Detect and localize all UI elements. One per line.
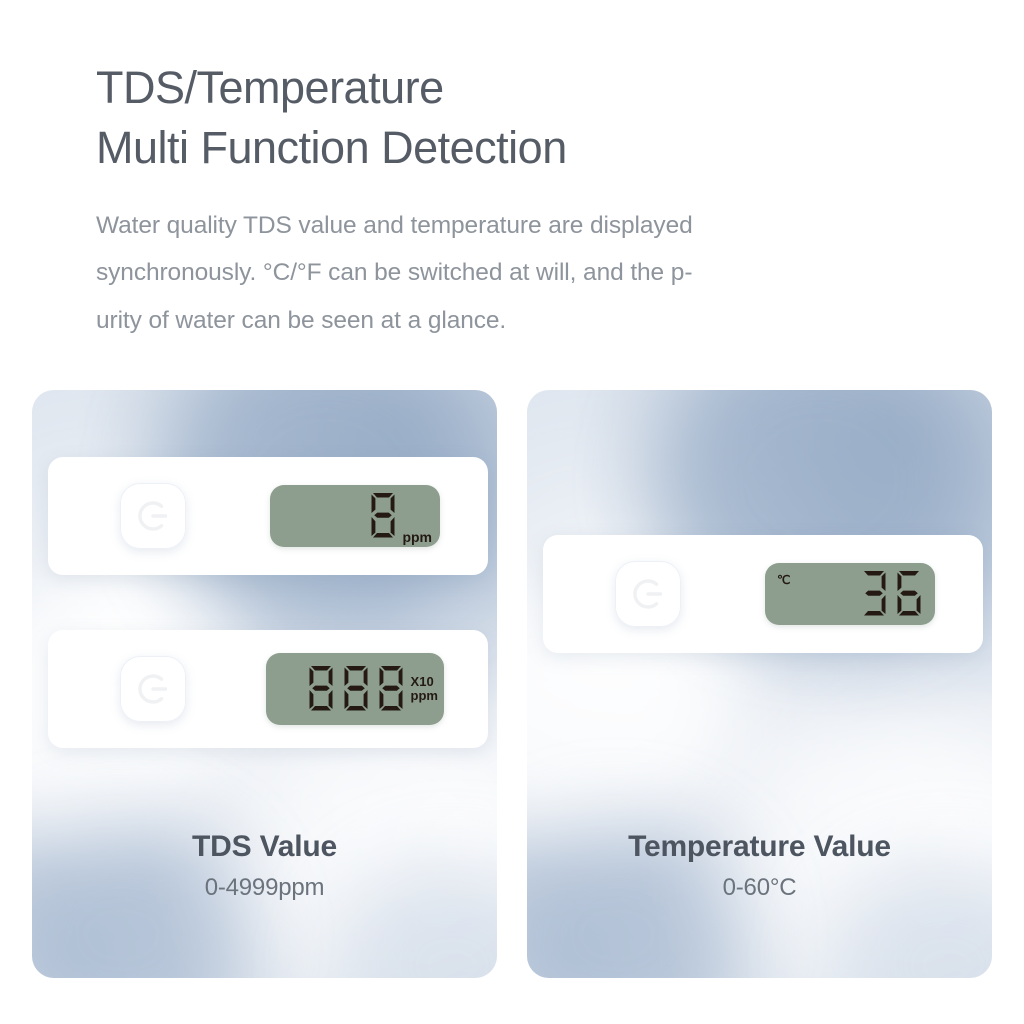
product-feature-page: TDS/Temperature Multi Function Detection… — [0, 0, 1024, 1024]
seven-segment-digit-6 — [893, 569, 925, 619]
panel-tds-value: ppm — [32, 390, 497, 978]
temperature-unit-label: ℃ — [777, 573, 790, 587]
lcd-multiplier-label: X10 — [411, 675, 434, 689]
caption-title: Temperature Value — [527, 830, 992, 864]
caption-title: TDS Value — [32, 830, 497, 864]
lcd-digits — [367, 491, 399, 541]
seven-segment-digit-8 — [340, 663, 372, 715]
feature-panels: ppm — [32, 390, 992, 978]
page-title: TDS/Temperature Multi Function Detection — [96, 58, 976, 178]
power-button[interactable] — [120, 656, 186, 722]
seven-segment-digit-3 — [858, 569, 890, 619]
panel-caption: Temperature Value 0-60°C — [527, 830, 992, 902]
caption-range: 0-60°C — [527, 874, 992, 902]
power-icon — [629, 575, 667, 613]
lcd-unit-label: ppm — [402, 529, 432, 545]
lcd-digits — [858, 569, 925, 619]
power-button[interactable] — [120, 483, 186, 549]
seven-segment-digit-8 — [375, 663, 407, 715]
lcd-display-temperature: ℃ — [765, 563, 935, 625]
device-row[interactable]: X10 ppm — [48, 630, 488, 748]
device-row[interactable]: ℃ — [543, 535, 983, 653]
panel-temperature-value: ℃ — [527, 390, 992, 978]
lcd-unit-stack: X10 ppm — [411, 675, 438, 702]
seven-segment-digit-8 — [305, 663, 337, 715]
lcd-display-tds-ones: ppm — [270, 485, 440, 547]
power-icon — [134, 670, 172, 708]
seven-segment-digit-8 — [367, 491, 399, 541]
caption-range: 0-4999ppm — [32, 874, 497, 902]
lcd-unit-label: ppm — [411, 689, 438, 703]
panel-caption: TDS Value 0-4999ppm — [32, 830, 497, 902]
power-button[interactable] — [615, 561, 681, 627]
power-icon — [134, 497, 172, 535]
device-row[interactable]: ppm — [48, 457, 488, 575]
lcd-display-tds-x10: X10 ppm — [266, 653, 444, 725]
header: TDS/Temperature Multi Function Detection… — [96, 58, 976, 345]
lcd-digits — [305, 663, 407, 715]
page-description: Water quality TDS value and temperature … — [96, 202, 956, 345]
